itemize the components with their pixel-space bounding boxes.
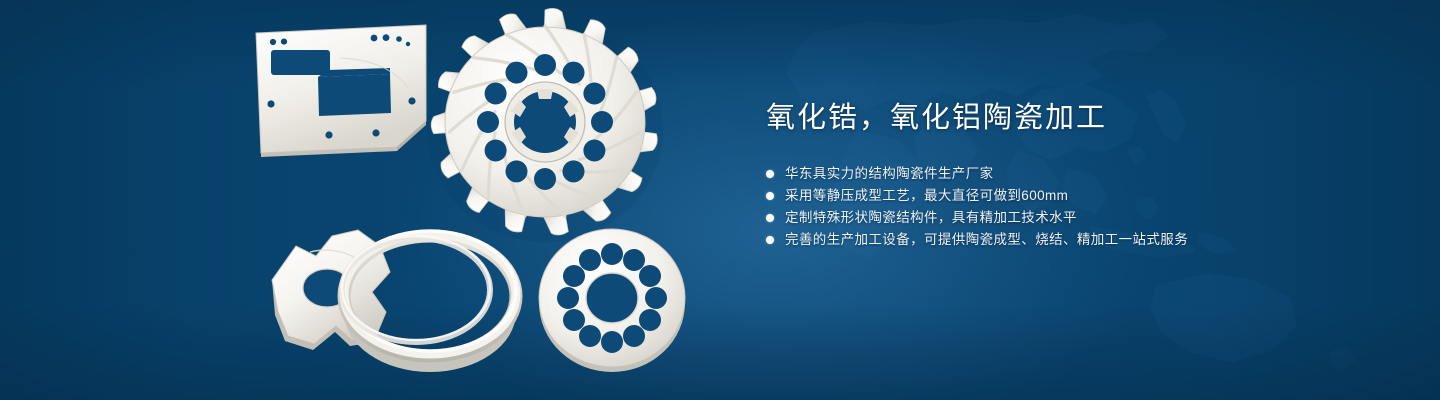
- promo-banner: 氧化锆，氧化铝陶瓷加工 华东具实力的结构陶瓷件生产厂家 采用等静压成型工艺，最大…: [0, 0, 1440, 400]
- feature-list: 华东具实力的结构陶瓷件生产厂家 采用等静压成型工艺，最大直径可做到600mm 定…: [766, 163, 1386, 251]
- ceramic-perforated-disc: [538, 229, 686, 372]
- list-item-label: 华东具实力的结构陶瓷件生产厂家: [785, 163, 994, 185]
- list-item-label: 采用等静压成型工艺，最大直径可做到600mm: [785, 185, 1068, 207]
- list-item: 定制特殊形状陶瓷结构件，具有精加工技术水平: [766, 207, 1386, 229]
- page-title: 氧化锆，氧化铝陶瓷加工: [766, 104, 1386, 133]
- ceramic-plate-with-cutouts: [256, 25, 426, 157]
- bullet-dot-icon: [766, 236, 774, 244]
- list-item-label: 完善的生产加工设备，可提供陶瓷成型、烧结、精加工一站式服务: [785, 229, 1188, 251]
- list-item: 采用等静压成型工艺，最大直径可做到600mm: [766, 185, 1386, 207]
- banner-text-column: 氧化锆，氧化铝陶瓷加工 华东具实力的结构陶瓷件生产厂家 采用等静压成型工艺，最大…: [766, 104, 1386, 251]
- ceramic-impeller-disc: [427, 8, 663, 242]
- ceramic-parts-photo: [240, 0, 710, 400]
- list-item-label: 定制特殊形状陶瓷结构件，具有精加工技术水平: [785, 207, 1077, 229]
- bullet-dot-icon: [766, 170, 774, 178]
- bullet-dot-icon: [766, 192, 774, 200]
- list-item: 华东具实力的结构陶瓷件生产厂家: [766, 163, 1386, 185]
- list-item: 完善的生产加工设备，可提供陶瓷成型、烧结、精加工一站式服务: [766, 229, 1386, 251]
- bullet-dot-icon: [766, 214, 774, 222]
